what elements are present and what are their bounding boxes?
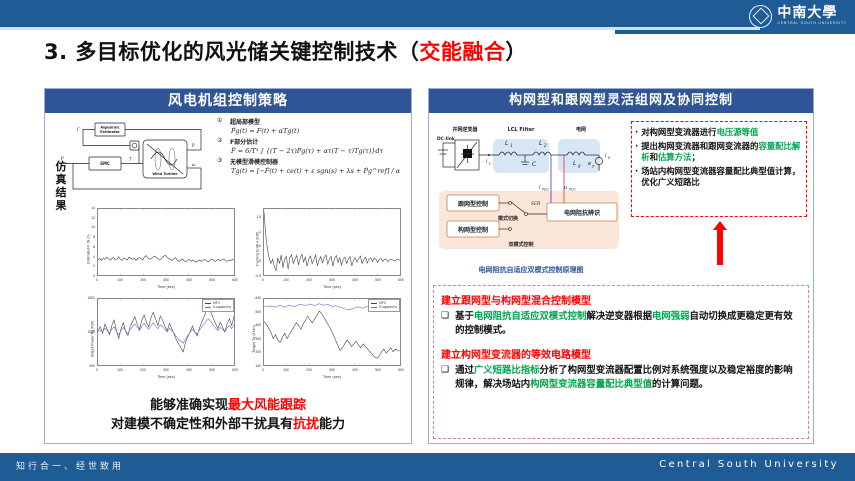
circuit-caption: 电网阻抗自适应双模式控制原理图 (433, 265, 629, 275)
chart-xtick: 500 (209, 368, 215, 372)
chart-xtick: 0 (96, 368, 98, 372)
chart-ytick: 100 (255, 364, 261, 368)
chart-xtick: 200 (306, 278, 312, 282)
conclusion-section: 建立构网型变流器的等效电路模型 ❑ 通过广义短路比指标分析了构网型变流器配置比例… (441, 346, 801, 392)
svg-text:ω: ω (192, 162, 196, 167)
page-title: 3. 多目标优化的风光储关键控制技术（交能融合） (44, 36, 527, 66)
conclusion-highlight: 最大风能跟踪 (228, 398, 306, 413)
footer-motto: 知行合一、经世致用 (16, 459, 124, 472)
chart-ytick: 14 (91, 206, 95, 210)
conclusions-box: 建立跟网型与构网型混合控制模型 ❑ 基于电网阻抗自适应双模式控制解决逆变器根据电… (433, 285, 809, 439)
part-plain: 基于 (455, 311, 474, 322)
bullet-dot: · (635, 141, 638, 163)
right-panel-title: 构网型和跟网型灵活组网及协同控制 (429, 89, 813, 113)
chart-ytick: 1 (259, 230, 261, 234)
conclusion-text: 能够准确实现 (150, 398, 228, 413)
chart-ytick: 12 (91, 216, 95, 220)
chart-ylabel: Output Power Pg (KW) (90, 321, 94, 358)
svg-text:u: u (564, 185, 567, 191)
chart-xtick: 600 (232, 278, 238, 282)
footer-university-name: Central South University (659, 459, 839, 470)
chart-ytick: 8 (93, 235, 95, 239)
chart-xtick: 100 (117, 278, 123, 282)
chart-xtick: 200 (306, 368, 312, 372)
footer-topline (0, 450, 855, 453)
formula-number: ③ (217, 157, 230, 164)
key-point-item: · 对构网型变流器进行电压源等值 (635, 127, 802, 138)
chart-xtick: 200 (140, 368, 146, 372)
chart-ytick: 1500 (87, 296, 95, 300)
right-panel-body: 并网逆变器 LCL Filter 电网 DC-link (429, 113, 813, 443)
svg-text:跟网型控制: 跟网型控制 (458, 200, 488, 208)
logo-text: 中南大學 CENTRAL SOUTH UNIVERSITY (777, 6, 847, 26)
chart-legend: MFC K-squared w (368, 299, 400, 312)
square-bullet-icon: ❑ (441, 310, 449, 338)
chart-xlabel: Time (sec) (263, 285, 401, 289)
left-conclusion: 能够准确实现最大风能跟踪 对建模不确定性和外部干扰具有抗扰能力 (45, 397, 411, 435)
svg-text:电网: 电网 (576, 126, 586, 133)
chart-xtick: 300 (163, 278, 169, 282)
conclusion-text: 能力 (319, 417, 345, 432)
simulation-charts: Estimated F (N.m) Time (sec) 02468101214… (75, 205, 405, 383)
control-block-diagram: Algebraic Estimator SMC Wind Turbine (59, 119, 209, 197)
svg-text:模式切换: 模式切换 (498, 215, 519, 222)
chart-xtick: 400 (186, 368, 192, 372)
chart-xtick: 400 (352, 278, 358, 282)
formula-number: ① (217, 117, 230, 124)
page-title-tail: ） (505, 40, 527, 64)
formula-label: F部分估计 (230, 137, 258, 146)
kp-plain: ； (691, 152, 699, 162)
svg-text:SCR: SCR (531, 201, 540, 207)
svg-text:SMC: SMC (100, 161, 110, 166)
chart-ytick: 10 (91, 225, 95, 229)
simulation-results-label: 仿真结果 (51, 161, 71, 213)
conclusion-line-1: 能够准确实现最大风能跟踪 (45, 397, 411, 416)
svg-text:并网逆变器: 并网逆变器 (452, 126, 478, 133)
svg-text:DC-link: DC-link (437, 136, 455, 142)
section-bullet: ❑ 通过广义短路比指标分析了构网型变流器配置比例对系统强度以及稳定裕度的影响规律… (441, 364, 801, 392)
chart-xtick: 200 (140, 278, 146, 282)
key-point-item: · 场站内构网型变流器容量配比典型值计算，优化广义短路比 (635, 166, 802, 188)
chart-xtick: 400 (352, 368, 358, 372)
chart-ytick: 300 (255, 337, 261, 341)
chart-xtick: 300 (163, 368, 169, 372)
chart-ytick: 0.5 (256, 244, 261, 248)
chart-xtick: 500 (209, 278, 215, 282)
chart-xtick: 600 (232, 368, 238, 372)
chart-ytick: 500 (255, 310, 261, 314)
circuit-diagram: 并网逆变器 LCL Filter 电网 DC-link (433, 117, 629, 267)
university-logo: 中南大學 CENTRAL SOUTH UNIVERSITY (749, 3, 847, 29)
formula-equation: Tg(t) = [−F̂(t) + ce(t) + ε sgn(s) + λs … (231, 167, 399, 175)
section-bullet-text: 通过广义短路比指标分析了构网型变流器配置比例对系统强度以及稳定裕度的影响规律，解… (455, 364, 801, 392)
svg-text:构网型控制: 构网型控制 (458, 226, 488, 234)
key-point-text: 对构网型变流器进行电压源等值 (641, 127, 758, 138)
legend-label: K-squared w (379, 305, 397, 309)
svg-text:Wind Turbine: Wind Turbine (152, 172, 178, 176)
part-plain: 的计算问题。 (652, 379, 708, 390)
footer-bar: 知行合一、经世致用 Central South University (0, 450, 855, 481)
chart-ytick: 1000 (87, 330, 95, 334)
chart-xtick: 400 (186, 278, 192, 282)
svg-text:L: L (573, 160, 576, 167)
top-banner: 中南大學 CENTRAL SOUTH UNIVERSITY (0, 0, 855, 34)
chart-estimated-f: Estimated F (N.m) Time (sec) 02468101214… (75, 205, 239, 293)
key-point-text: 场站内构网型变流器容量配比典型值计算，优化广义短路比 (641, 166, 802, 188)
kp-plain: 提出构网变流器和跟网变流器的 (641, 141, 758, 151)
conclusion-section: 建立跟网型与构网型混合控制模型 ❑ 基于电网阻抗自适应双模式控制解决逆变器根据电… (441, 292, 801, 338)
chart-ytick: 0 (93, 274, 95, 278)
svg-text:i: i (539, 185, 541, 191)
formula-label: 超局部模型 (230, 117, 260, 126)
chart-ytick: 600 (255, 296, 261, 300)
chart-legend: MFC K-squared w (202, 299, 234, 312)
part-green: 构网型变流器容量配比典型值 (530, 379, 652, 390)
svg-text:g: g (608, 156, 611, 160)
svg-text:i: i (486, 159, 488, 165)
right-panel: 构网型和跟网型灵活组网及协同控制 并网逆变器 LCL Filter 电网 DC-… (428, 88, 814, 444)
logo-name-cn: 中南大學 (777, 6, 847, 20)
formula-equation: Ṗg(t) = F(t) + αTg(t) (231, 127, 399, 135)
square-bullet-icon: ❑ (441, 364, 449, 392)
section-bullet: ❑ 基于电网阻抗自适应双模式控制解决逆变器根据电网强弱自动切换成更稳定更有效的控… (441, 310, 801, 338)
part-plain: 解决逆变器根据 (586, 311, 652, 322)
bullet-dot: · (635, 127, 638, 138)
chart-xtick: 100 (117, 368, 123, 372)
chart-ytick: 200 (255, 350, 261, 354)
chart-tracking-error: Tracking Error e (KW) Time (sec) -0.500.… (241, 205, 405, 293)
chart-ytick: 2 (93, 264, 95, 268)
svg-text:F: F (77, 127, 80, 132)
chart-ytick: 500 (89, 364, 95, 368)
section-title: 建立跟网型与构网型混合控制模型 (441, 292, 801, 307)
chart-xlabel: Time (sec) (97, 375, 235, 379)
page-title-main: 3. 多目标优化的风光储关键控制技术（ (44, 40, 419, 64)
chart-ytick: 400 (255, 323, 261, 327)
chart-xlabel: Time (sec) (97, 285, 235, 289)
section-bullet-text: 基于电网阻抗自适应双模式控制解决逆变器根据电网强弱自动切换成更稳定更有效的控制模… (455, 310, 801, 338)
bullet-dot: · (635, 166, 638, 188)
chart-xtick: 0 (262, 368, 264, 372)
conclusion-highlight: 抗扰 (293, 417, 319, 432)
svg-text:LCL Filter: LCL Filter (508, 127, 535, 133)
legend-entry: K-squared w (205, 305, 231, 309)
legend-entry: K-squared w (371, 305, 397, 309)
kp-plain: 对构网型变流器进行 (641, 127, 716, 137)
conclusion-text: 对建模不确定性和外部干扰具有 (111, 417, 293, 432)
slide-root: 中南大學 CENTRAL SOUTH UNIVERSITY 3. 多目标优化的风… (0, 0, 855, 481)
part-green: 电网强弱 (652, 311, 690, 322)
chart-xtick: 500 (375, 278, 381, 282)
svg-text:L: L (539, 140, 542, 147)
part-green: 电网阻抗自适应双模式控制 (474, 311, 587, 322)
chart-xtick: 300 (329, 278, 335, 282)
key-points-callout: · 对构网型变流器进行电压源等值 · 提出构网变流器和跟网变流器的容量配比解析和… (631, 121, 807, 217)
chart-xtick: 100 (283, 278, 289, 282)
logo-name-en: CENTRAL SOUTH UNIVERSITY (777, 22, 847, 26)
chart-ytick: -0.5 (255, 274, 261, 278)
key-points-list: · 对构网型变流器进行电压源等值 · 提出构网变流器和跟网变流器的容量配比解析和… (635, 127, 802, 188)
section-title: 建立构网型变流器的等效电路模型 (441, 346, 801, 361)
left-panel-body: Algebraic Estimator SMC Wind Turbine (45, 113, 411, 443)
page-title-highlight: 交能融合 (419, 40, 505, 64)
chart-xtick: 0 (262, 278, 264, 282)
svg-text:Estimator: Estimator (100, 130, 120, 134)
kp-green: 估算方法 (658, 152, 692, 162)
legend-label: K-squared w (213, 305, 231, 309)
kp-green: 电压源等值 (717, 127, 759, 137)
chart-torque: Torque Tg (KNm) Time (sec) MFC K-squared… (241, 295, 405, 383)
key-point-text: 提出构网变流器和跟网变流器的容量配比解析和估算方法； (641, 141, 802, 163)
svg-text:i: i (605, 153, 607, 159)
chart-xtick: 600 (398, 278, 404, 282)
chart-ytick: 1.5 (256, 215, 261, 219)
formula-item: ② F部分估计 (217, 137, 399, 146)
formula-label: 无模型滑模控制器 (230, 157, 278, 166)
chart-xtick: 100 (283, 368, 289, 372)
formula-number: ② (217, 137, 230, 144)
svg-text:双模式控制: 双模式控制 (508, 241, 533, 248)
svg-text:T: T (129, 157, 132, 162)
kp-plain: 和 (650, 152, 658, 162)
svg-text:1: 1 (510, 143, 513, 148)
svg-text:L: L (489, 162, 491, 166)
formula-item: ① 超局部模型 (217, 117, 399, 126)
left-panel: 风电机组控制策略 Algebraic Estimator SMC (44, 88, 412, 444)
svg-text:Algebraic: Algebraic (100, 126, 119, 130)
banner-hairline (0, 27, 760, 30)
formula-list: ① 超局部模型 Ṗg(t) = F(t) + αTg(t) ② F部分估计 F̂… (217, 117, 399, 203)
formula-item: ③ 无模型滑模控制器 (217, 157, 399, 166)
csu-seal-icon (749, 5, 772, 28)
svg-text:PCC: PCC (542, 188, 549, 192)
svg-text:电网阻抗辨识: 电网阻抗辨识 (564, 209, 600, 217)
chart-output-power: Output Power Pg (KW) Time (sec) MFC K-sq… (75, 295, 239, 383)
key-point-item: · 提出构网变流器和跟网变流器的容量配比解析和估算方法； (635, 141, 802, 163)
left-panel-title: 风电机组控制策略 (45, 89, 411, 113)
chart-ytick: 4 (93, 255, 95, 259)
svg-text:L: L (505, 140, 508, 147)
chart-xtick: 500 (375, 368, 381, 372)
part-plain: 通过 (455, 365, 474, 376)
part-green: 广义短路比指标 (474, 365, 540, 376)
conclusion-line-2: 对建模不确定性和外部干扰具有抗扰能力 (45, 416, 411, 435)
chart-xtick: 0 (96, 278, 98, 282)
chart-plot-area (263, 208, 401, 276)
chart-plot-area (97, 208, 235, 276)
svg-text:e: e (588, 161, 591, 167)
chart-xlabel: Time (sec) (263, 375, 401, 379)
chart-ylabel: Estimated F (N.m) (87, 234, 91, 263)
svg-text:P: P (192, 143, 195, 148)
formula-equation: F̂ = 6/T³ ∫ {(T − 2τ)Pg(τ) + ατ(T − τ)Tg… (231, 147, 399, 155)
chart-xtick: 600 (398, 368, 404, 372)
chart-xtick: 300 (329, 368, 335, 372)
chart-ytick: 6 (93, 245, 95, 249)
svg-text:PCC: PCC (569, 188, 576, 192)
chart-ytick: 0 (259, 259, 261, 263)
